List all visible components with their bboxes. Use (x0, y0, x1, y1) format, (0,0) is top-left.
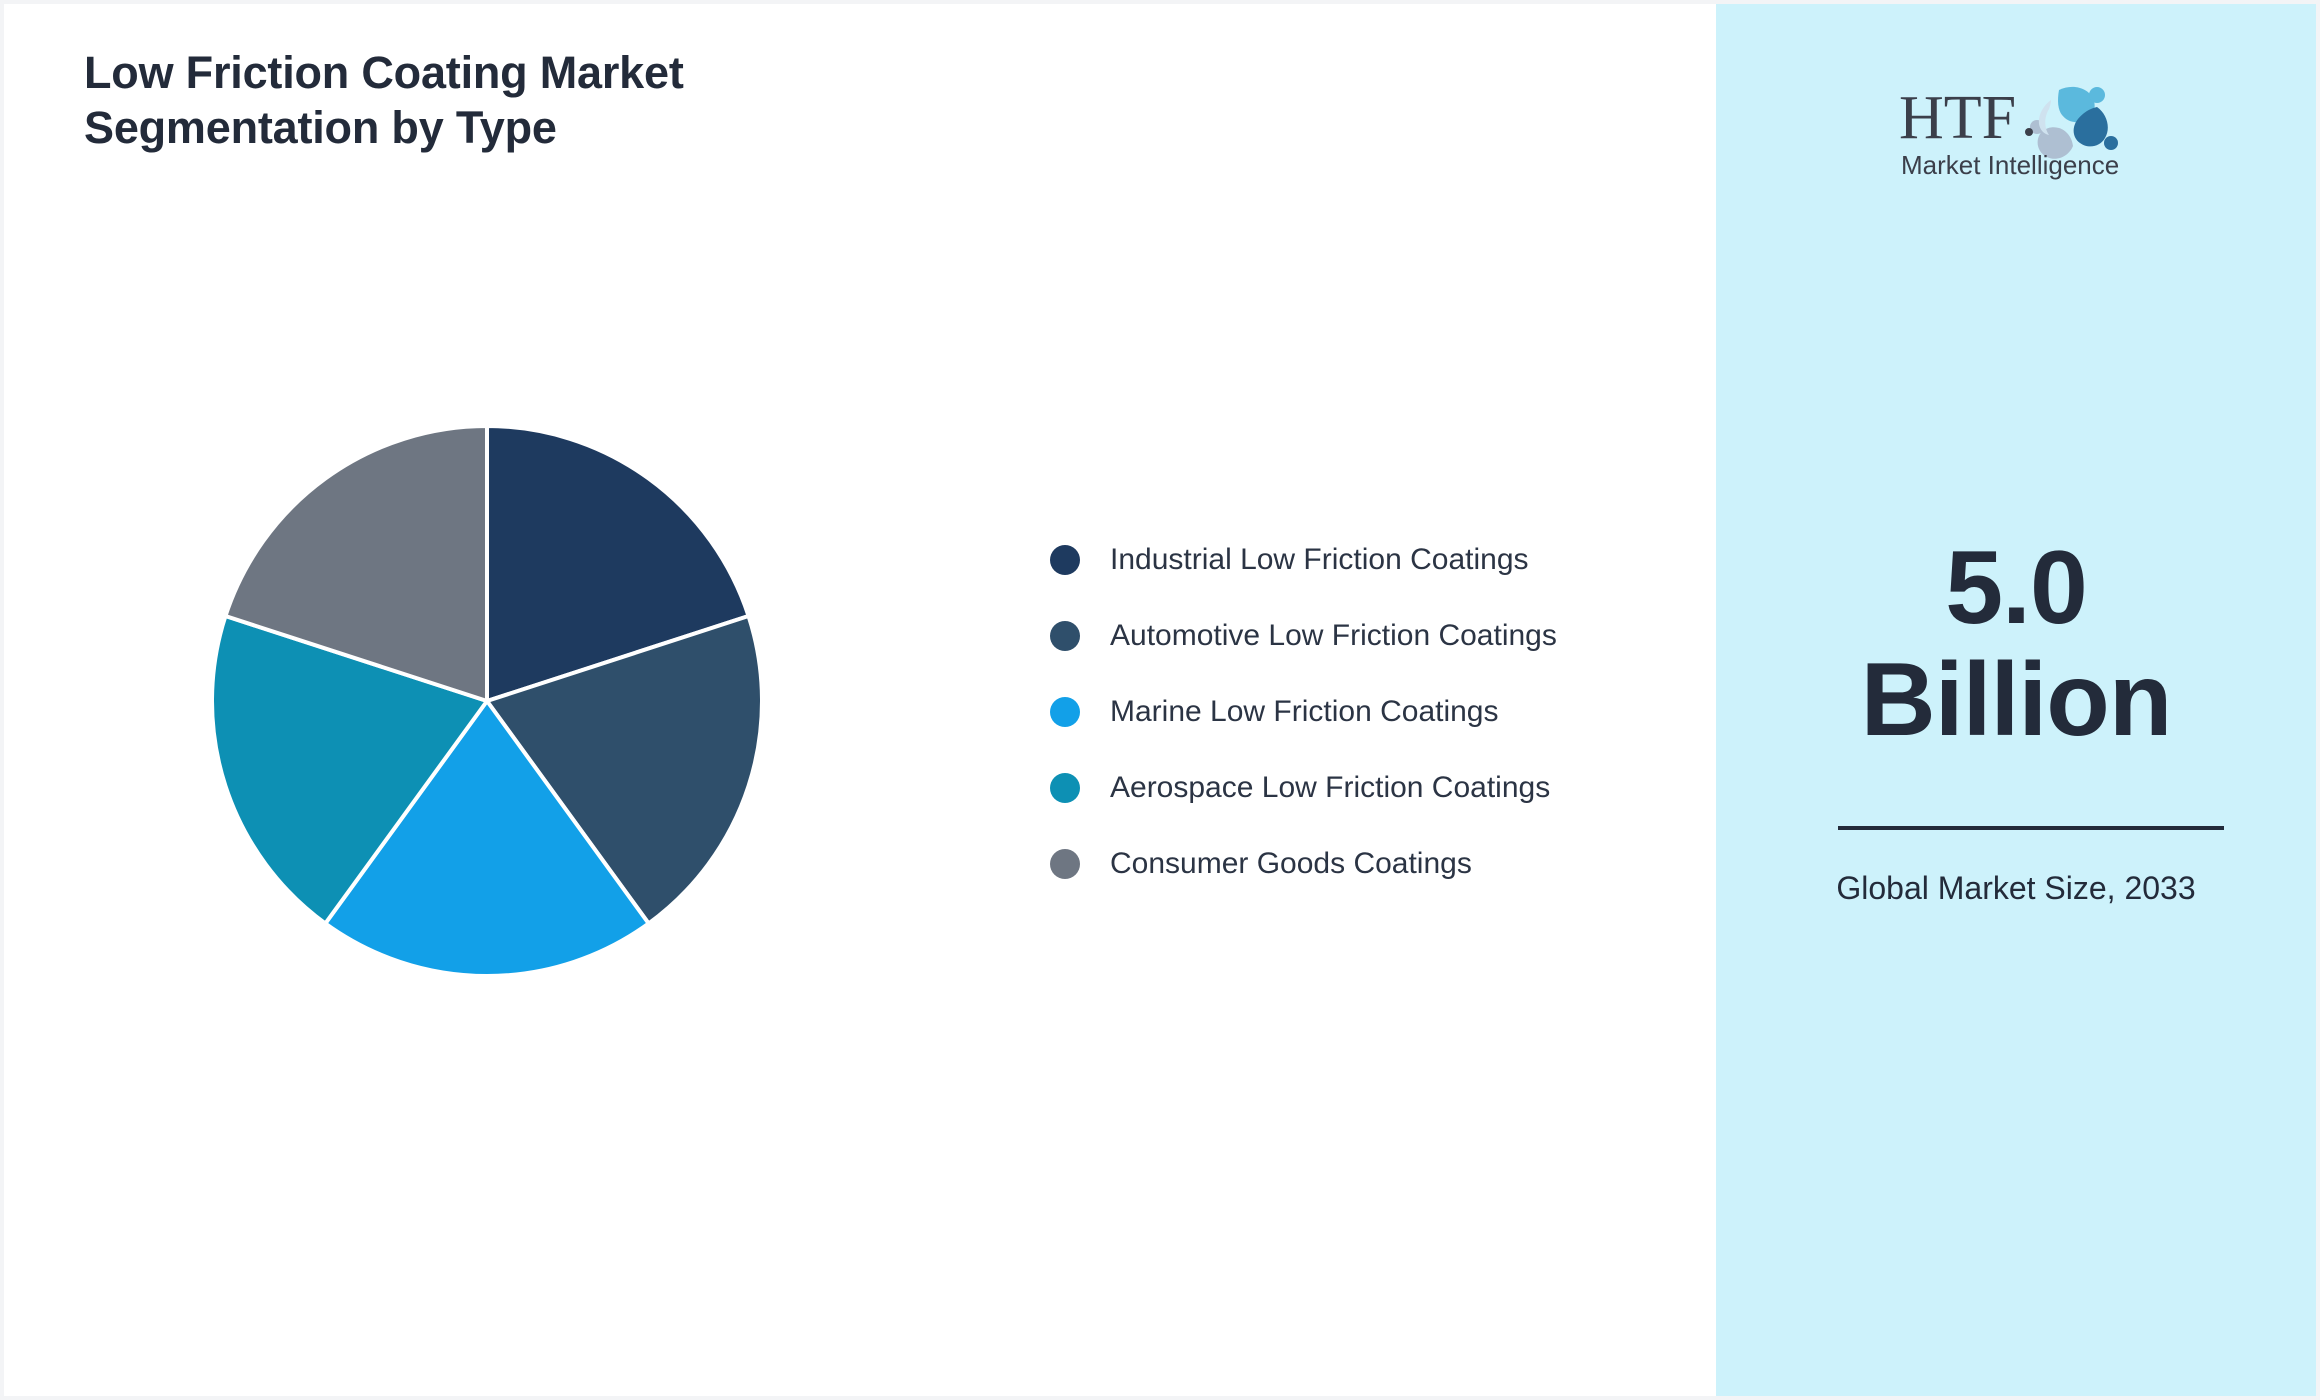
logo-subtitle-text: Market Intelligence (1901, 150, 2119, 180)
legend-item-label: Aerospace Low Friction Coatings (1110, 771, 1550, 805)
legend-item-aerospace[interactable]: Aerospace Low Friction Coatings (1050, 750, 1670, 826)
stat-value-line-1: 5.0 (1756, 532, 2276, 644)
page-title: Low Friction Coating Market Segmentation… (84, 46, 944, 156)
pie-chart (210, 424, 764, 978)
logo-svg: HTF Market Intelligence (1891, 64, 2141, 184)
stat-panel: HTF Market Intelligence 5.0 Billion Glob… (1716, 4, 2316, 1396)
legend-item-label: Marine Low Friction Coatings (1110, 695, 1499, 729)
legend-swatch-icon (1050, 849, 1080, 879)
stat-value-line-2: Billion (1756, 644, 2276, 756)
legend-swatch-icon (1050, 773, 1080, 803)
logo-wordmark: HTF (1899, 84, 2016, 152)
legend-item-label: Automotive Low Friction Coatings (1110, 619, 1557, 653)
chart-panel: Low Friction Coating Market Segmentation… (4, 4, 1716, 1396)
chart-legend: Industrial Low Friction Coatings Automot… (1050, 522, 1670, 902)
logo-dot-icon (2025, 128, 2033, 136)
legend-item-industrial[interactable]: Industrial Low Friction Coatings (1050, 522, 1670, 598)
logo-main-text: HTF (1899, 84, 2016, 152)
stat-value: 5.0 Billion (1756, 532, 2276, 757)
legend-item-label: Consumer Goods Coatings (1110, 847, 1472, 881)
legend-item-marine[interactable]: Marine Low Friction Coatings (1050, 674, 1670, 750)
infographic-canvas: Low Friction Coating Market Segmentation… (0, 0, 2320, 1400)
pie-slice-group (212, 426, 762, 976)
legend-swatch-icon (1050, 697, 1080, 727)
legend-swatch-icon (1050, 621, 1080, 651)
legend-item-consumer-goods[interactable]: Consumer Goods Coatings (1050, 826, 1670, 902)
divider (1838, 826, 2224, 830)
stat-caption: Global Market Size, 2033 (1782, 866, 2250, 911)
three-people-emblem-icon (2030, 87, 2118, 159)
legend-item-automotive[interactable]: Automotive Low Friction Coatings (1050, 598, 1670, 674)
htf-market-intelligence-logo: HTF Market Intelligence (1891, 64, 2141, 184)
pie-chart-svg (210, 424, 764, 978)
legend-swatch-icon (1050, 545, 1080, 575)
legend-item-label: Industrial Low Friction Coatings (1110, 543, 1529, 577)
